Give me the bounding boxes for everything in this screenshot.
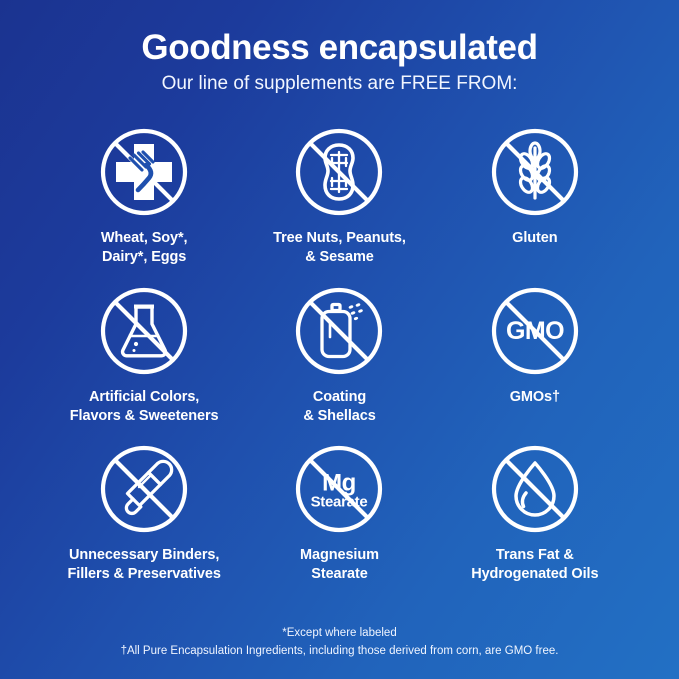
grid-item-allergens: Wheat, Soy*, Dairy*, Eggs [47, 122, 242, 267]
grid-item-gluten: Gluten [437, 122, 632, 267]
grid-item-artificial-colors: Artificial Colors, Flavors & Sweeteners [47, 281, 242, 426]
goodness-encapsulated-poster: Goodness encapsulated Our line of supple… [0, 0, 679, 679]
grid-item-trans-fat: Trans Fat & Hydrogenated Oils [437, 439, 632, 584]
footnotes: *Except where labeled †All Pure Encapsul… [0, 625, 679, 661]
grid-item-label: GMOs† [510, 388, 560, 407]
no-peanut-icon [289, 122, 389, 222]
free-from-grid: Wheat, Soy*, Dairy*, Eggs [47, 122, 633, 584]
grid-item-nuts: Tree Nuts, Peanuts, & Sesame [242, 122, 437, 267]
grid-item-label: Unnecessary Binders, Fillers & Preservat… [68, 546, 221, 584]
page-subtitle: Our line of supplements are FREE FROM: [0, 73, 679, 96]
no-lab-flask-icon [94, 281, 194, 381]
grid-item-magnesium-stearate: Mg Stearate Magnesium Stearate [242, 439, 437, 584]
no-gmo-text-icon: GMO [485, 281, 585, 381]
grid-item-binders: Unnecessary Binders, Fillers & Preservat… [47, 439, 242, 584]
grid-item-label: Magnesium Stearate [300, 546, 379, 584]
no-wheat-stalk-icon [485, 122, 585, 222]
no-spray-can-icon [289, 281, 389, 381]
grid-item-label: Trans Fat & Hydrogenated Oils [471, 546, 598, 584]
no-oil-droplet-icon [485, 439, 585, 539]
no-dropper-pipette-icon [94, 439, 194, 539]
no-fork-cross-allergen-icon [94, 122, 194, 222]
gmo-icon-text: GMO [506, 317, 564, 345]
poster-header: Goodness encapsulated Our line of supple… [0, 28, 679, 96]
footnote-except-where-labeled: *Except where labeled [0, 625, 679, 643]
grid-item-label: Tree Nuts, Peanuts, & Sesame [273, 229, 406, 267]
grid-item-label: Gluten [512, 229, 557, 248]
mg-icon-text: Mg [323, 470, 357, 497]
grid-item-gmo: GMO GMOs† [437, 281, 632, 426]
grid-item-coating: Coating & Shellacs [242, 281, 437, 426]
grid-item-label: Wheat, Soy*, Dairy*, Eggs [101, 229, 188, 267]
grid-item-label: Coating & Shellacs [303, 388, 375, 426]
footnote-gmo-free: †All Pure Encapsulation Ingredients, inc… [0, 643, 679, 661]
stearate-icon-text: Stearate [311, 494, 368, 511]
grid-item-label: Artificial Colors, Flavors & Sweeteners [70, 388, 219, 426]
page-title: Goodness encapsulated [0, 28, 679, 67]
no-magnesium-stearate-text-icon: Mg Stearate [289, 439, 389, 539]
